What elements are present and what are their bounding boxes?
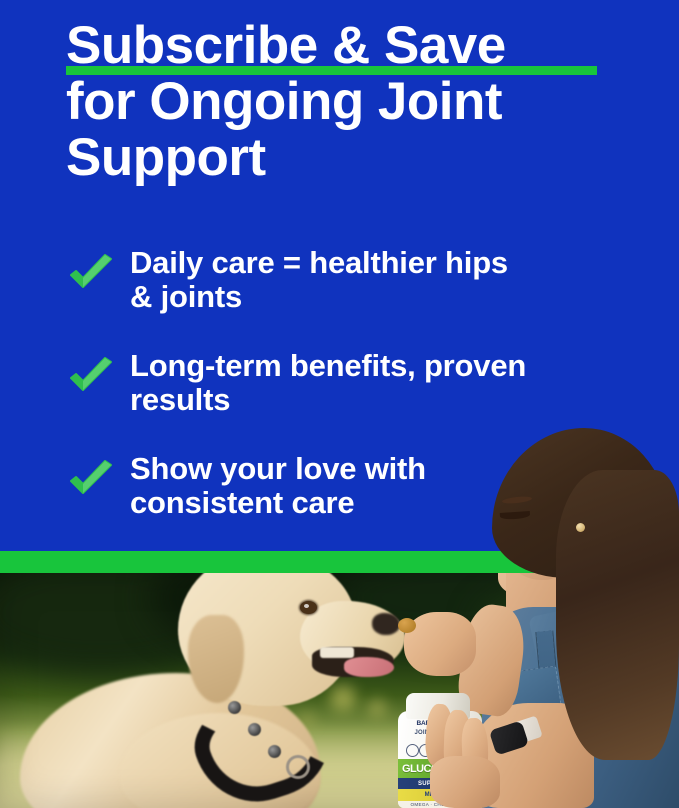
collar-stud: [248, 723, 261, 736]
dog-nose: [372, 613, 400, 635]
collar-stud: [228, 701, 241, 714]
dog-tongue: [344, 657, 394, 677]
benefits-list: Daily care = healthier hips & joints Lon…: [66, 246, 666, 520]
palm: [430, 756, 500, 808]
collar-stud: [268, 745, 281, 758]
list-item: Daily care = healthier hips & joints: [66, 246, 666, 314]
certification-icon: [406, 744, 419, 757]
list-item: Show your love with consistent care: [66, 452, 666, 520]
list-item-label: Long-term benefits, proven results: [130, 349, 530, 417]
earring-icon: [576, 523, 585, 532]
check-icon: [68, 460, 114, 500]
headline-line-1: Subscribe & Save: [66, 18, 506, 74]
bokeh-light: [368, 699, 386, 717]
headline-line-3: Support: [66, 130, 656, 186]
treat-chew: [398, 618, 416, 633]
bokeh-light: [330, 685, 356, 711]
check-icon: [68, 254, 114, 294]
woman-hand-grip: [424, 700, 502, 808]
list-item: Long-term benefits, proven results: [66, 349, 666, 417]
subscribe-save-banner: Subscribe & Save for Ongoing Joint Suppo…: [0, 0, 679, 808]
list-item-label: Show your love with consistent care: [130, 452, 530, 520]
list-item-label: Daily care = healthier hips & joints: [130, 246, 530, 314]
collar-ring: [286, 755, 310, 779]
dog-eye: [300, 601, 317, 614]
dog-teeth: [320, 647, 354, 658]
check-icon: [68, 357, 114, 397]
page-title: Subscribe & Save for Ongoing Joint Suppo…: [66, 18, 656, 186]
headline-line-2: for Ongoing Joint: [66, 74, 656, 130]
